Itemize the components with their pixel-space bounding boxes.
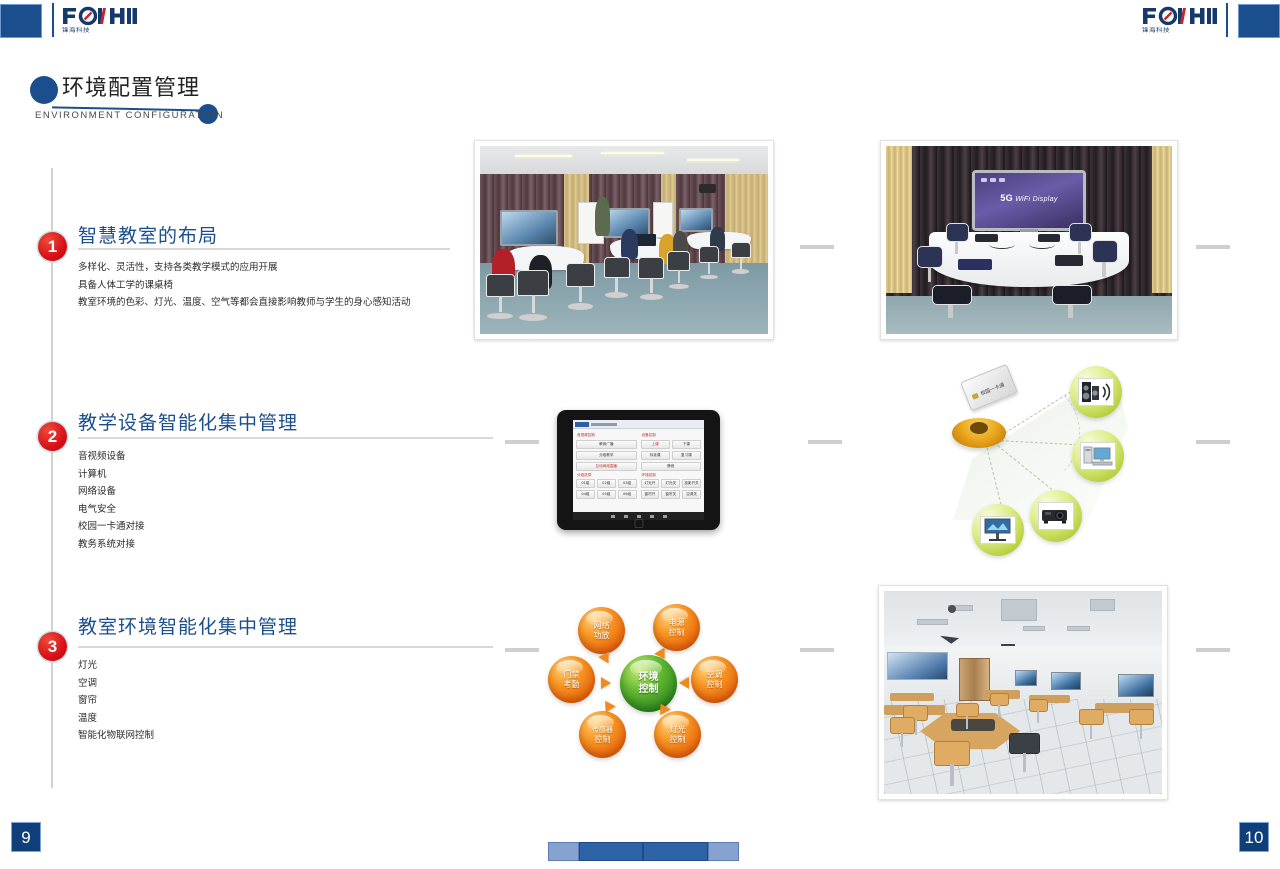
tablet-btn-live-stream[interactable]: 互动网络直播 [576,462,637,471]
connector-dash-3a [505,648,539,652]
connector-dash-1a [800,245,834,249]
page-number-right: 10 [1239,822,1269,852]
connector-dash-2a [505,440,539,444]
env-arrow-from-ac [679,677,689,689]
section-1-line-1: 多样化、灵活性，支持各类教学模式的应用开展 [78,259,411,277]
page-title-en: ENVIRONMENT CONFIGURATION [35,110,224,121]
tablet-btn-group-4[interactable]: 04组 [576,490,595,499]
section-3-line-5: 智能化物联网控制 [78,727,154,745]
env-node-4-line-1: 传感器 [592,726,613,734]
section-1-line-3: 教室环境的色彩、灯光、温度、空气等都会直接影响教师与学生的身心感知活动 [78,294,411,312]
photo-classroom-hex [878,585,1168,800]
tablet-home-button[interactable] [634,519,643,528]
section-2-line-6: 教务系统对接 [78,536,145,554]
tablet-btn-projector-toggle[interactable]: 投影开关 [682,479,701,488]
tablet-btn-light-off[interactable]: 灯光关 [661,479,680,488]
section-1-line-2: 具备人体工学的课桌椅 [78,277,411,295]
page-header: 锋海科技 锋海科技 [0,0,1280,44]
section-3-heading: 教室环境智能化集中管理 [78,612,298,639]
header-divider-right [1226,3,1228,37]
connector-dash-3b [800,648,834,652]
tablet-caption-env: 环境控制 [642,473,702,478]
connector-dash-1b [1196,245,1230,249]
env-node-power-control: 电源 控制 [653,604,700,651]
iot-node-display [972,504,1024,556]
tablet-btn-group-3[interactable]: 03组 [618,479,637,488]
section-2-line-1: 音视频设备 [78,448,145,466]
section-2-line-2: 计算机 [78,466,145,484]
tablet-btn-ac-off[interactable]: 空调关 [682,490,701,499]
campus-card: 校园一卡通 [960,364,1018,411]
env-node-2-line-1: 空调 [707,670,723,679]
footer-decorative-bar [548,842,739,861]
tablet-btn-class-end[interactable]: 下课 [672,440,701,449]
env-control-diagram: 环境 控制 网络 功放 电源 控制 空调 控制 灯光 控制 [548,592,748,772]
env-node-1-line-2: 控制 [669,628,685,637]
campus-card-label: 校园一卡通 [980,381,1006,397]
projector-icon [1039,503,1073,529]
section-3-lines: 灯光 空调 窗帘 温度 智能化物联网控制 [78,657,154,745]
tablet-btn-group-5[interactable]: 05组 [597,490,616,499]
section-2-line-5: 校园一卡通对接 [78,518,145,536]
tablet-btn-curtain-close[interactable]: 窗帘关 [661,490,680,499]
env-node-5-line-2: 考勤 [564,680,580,689]
section-2-badge: 2 [38,422,67,451]
page-title: 环境配置管理 ENVIRONMENT CONFIGURATION [30,72,390,128]
env-node-network-amp: 网络 功放 [578,607,625,654]
env-node-5-line-1: 门禁 [564,670,580,679]
section-2-rule [78,437,493,439]
section-2-heading: 教学设备智能化集中管理 [78,408,298,435]
header-square-left [0,4,42,38]
brand-logo-right: 锋海科技 [1142,6,1218,36]
section-1-rule [78,248,450,250]
photo-classroom-students [474,140,774,340]
section-3-line-3: 窗帘 [78,692,154,710]
section-1-heading: 智慧教室的布局 [78,221,218,248]
section-3-badge: 3 [38,632,67,661]
tablet-btn-group-1[interactable]: 01组 [576,479,595,488]
tablet-caption-groups: 分组选择 [577,473,637,478]
footer-bar-segment-2 [579,842,644,861]
footer-bar-segment-4 [708,842,739,861]
section-2-lines: 音视频设备 计算机 网络设备 电气安全 校园一卡通对接 教务系统对接 [78,448,145,553]
section-3-line-2: 空调 [78,675,154,693]
control-tablet: 音视频控制 教师广播 分组教学 互动网络直播 分组选择 01组 02组 03组 … [557,410,720,530]
env-node-center: 环境 控制 [620,655,677,712]
title-dot-large-icon [30,76,58,104]
tablet-group-av: 音视频控制 教师广播 分组教学 互动网络直播 分组选择 01组 02组 03组 … [576,432,637,517]
tablet-caption-av: 音视频控制 [577,433,637,438]
env-center-line-1: 环境 [639,672,659,683]
env-arrow-from-access [601,677,611,689]
iot-node-computer [1072,430,1124,482]
section-3-line-4: 温度 [78,710,154,728]
section-1-lines: 多样化、灵活性，支持各类教学模式的应用开展 具备人体工学的课桌椅 教室环境的色彩… [78,259,411,312]
header-divider-left [52,3,54,37]
page-title-cn: 环境配置管理 [62,72,200,106]
env-node-3-line-2: 控制 [670,735,686,744]
tablet-btn-group-teaching[interactable]: 分组教学 [576,451,637,460]
brand-name-cn-right: 锋海科技 [1142,26,1218,33]
tablet-btn-light-on[interactable]: 灯光开 [641,479,660,488]
env-node-3-line-1: 灯光 [670,725,686,734]
iot-node-speaker [1070,366,1122,418]
tablet-titlebar [573,420,704,429]
section-1-badge: 1 [38,232,67,261]
tablet-btn-class-start[interactable]: 上课 [641,440,670,449]
env-node-ac-control: 空调 控制 [691,656,738,703]
footer-bar-segment-3 [643,842,708,861]
photo-pod-5g: 5G WiFi Display [880,140,1178,340]
section-3-line-1: 灯光 [78,657,154,675]
display-wifi-label: WiFi Display [1015,196,1057,203]
tablet-caption-device: 设备控制 [642,433,702,438]
display-screen-text: 5G WiFi Display [975,193,1083,203]
tablet-btn-review-class[interactable]: 复习课 [672,451,701,460]
env-node-4-line-2: 控制 [595,735,611,744]
footer-bar-segment-1 [548,842,579,861]
env-node-2-line-2: 控制 [707,680,723,689]
section-2-line-4: 电气安全 [78,501,145,519]
env-node-light-control: 灯光 控制 [654,711,701,758]
page-number-left: 9 [11,822,41,852]
card-reader-icon [952,418,1006,448]
iot-card-diagram: 校园一卡通 [930,360,1145,560]
fonhai-logo-icon-right [1142,6,1218,25]
tablet-btn-group-6[interactable]: 06组 [618,490,637,499]
speaker-icon [1079,379,1113,405]
iot-node-projector [1030,490,1082,542]
env-center-line-2: 控制 [639,684,659,695]
env-node-0-line-1: 网络 [594,621,610,630]
tablet-btn-curtain-open[interactable]: 窗帘开 [641,490,660,499]
env-node-sensor-control: 传感器 控制 [579,711,626,758]
brand-name-cn-left: 锋海科技 [62,26,138,33]
tablet-group-device: 设备控制 上课 下课 标准课 复习课 静音 环境控制 灯光开 灯光关 投影开关 … [641,432,702,517]
tablet-btn-standard-class[interactable]: 标准课 [641,451,670,460]
tablet-screen[interactable]: 音视频控制 教师广播 分组教学 互动网络直播 分组选择 01组 02组 03组 … [573,420,704,520]
section-2-line-3: 网络设备 [78,483,145,501]
connector-dash-2c [1196,440,1230,444]
fonhai-logo-icon [62,6,138,25]
display-stand-icon [981,517,1015,543]
env-node-1-line-1: 电源 [669,618,685,627]
display-5g-label: 5G [1000,193,1013,203]
card-chip-icon [972,393,979,400]
tablet-btn-mute[interactable]: 静音 [641,462,702,471]
connector-dash-2b [808,440,842,444]
vertical-spine [51,168,53,788]
env-node-0-line-2: 功放 [594,631,610,640]
connector-dash-3c [1196,648,1230,652]
header-square-right [1238,4,1280,38]
tablet-btn-group-2[interactable]: 02组 [597,479,616,488]
section-3-rule [78,646,493,648]
brand-logo-left: 锋海科技 [62,6,138,36]
env-node-access-attendance: 门禁 考勤 [548,656,595,703]
computer-icon [1081,443,1115,469]
tablet-btn-teacher-broadcast[interactable]: 教师广播 [576,440,637,449]
